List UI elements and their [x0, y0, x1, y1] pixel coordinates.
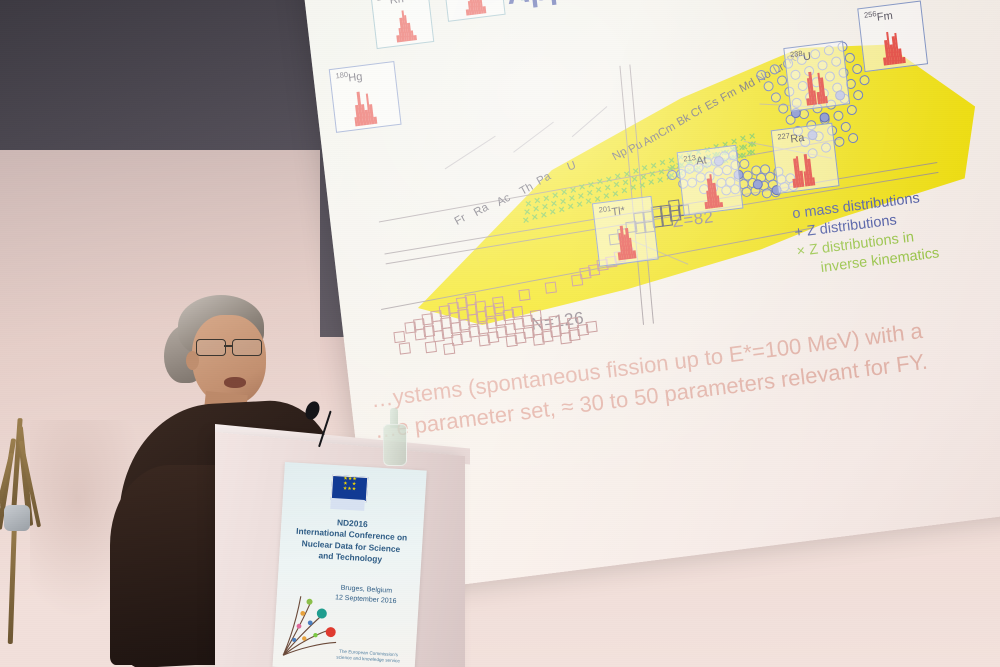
inset-218Th: 218Th	[441, 0, 505, 22]
inset-label: 213At	[683, 152, 707, 169]
histogram	[779, 149, 835, 189]
element-label-fr: Fr	[453, 212, 468, 228]
stick	[8, 514, 18, 644]
nuclide-marker	[518, 289, 530, 301]
water-bottle	[383, 424, 407, 466]
inset-256Fm: 256Fm	[857, 1, 928, 73]
element-symbol: Fm	[876, 10, 893, 24]
histogram	[600, 222, 654, 262]
mass-number: 180	[335, 70, 348, 81]
histogram	[337, 87, 396, 128]
poster-title: ND2016 International Conference on Nucle…	[283, 514, 420, 568]
mass-number: 213	[683, 153, 696, 164]
inset-180Hg: 180Hg	[329, 61, 402, 133]
leader-line	[513, 122, 554, 153]
element-symbol: U	[802, 50, 811, 63]
inset-213At: 213At	[677, 145, 744, 216]
nuclide-marker	[585, 321, 597, 333]
inset-label: 227Ra	[777, 129, 805, 147]
eu-stars: ★★★★ ★★★★	[332, 476, 367, 501]
bridge	[224, 345, 232, 347]
element-symbol: At	[696, 154, 708, 167]
mouth	[224, 377, 246, 388]
eyeglasses	[196, 339, 266, 354]
nuclide-marker	[443, 343, 455, 355]
element-symbol: Tl*	[611, 205, 626, 219]
nuclide-marker	[492, 296, 504, 308]
lens-right	[232, 339, 262, 356]
nuclide-marker	[399, 342, 411, 354]
mass-number: 227	[777, 131, 790, 142]
nuclide-marker	[425, 341, 437, 353]
nuclide-marker	[393, 331, 405, 343]
element-symbol: Ra	[790, 132, 805, 146]
lens-left	[196, 339, 226, 356]
inset-label: 180Hg	[335, 68, 363, 86]
histogram	[378, 8, 429, 45]
element-symbol: Hg	[348, 71, 363, 85]
element-label-ac: Ac	[495, 192, 513, 209]
conference-poster: ★★★★ ★★★★ ND2016 International Conferenc…	[272, 462, 426, 667]
leader-line	[445, 136, 496, 170]
inset-208Rn: 208Rn	[370, 0, 434, 49]
nuclide-marker	[545, 281, 557, 293]
face	[192, 315, 266, 405]
inset-label: 208Rn	[376, 0, 404, 8]
mass-number: 208	[376, 0, 389, 3]
inset-227Ra: 227Ra	[771, 123, 840, 194]
histogram	[865, 27, 922, 68]
legend-symbol-circle: o	[792, 205, 802, 222]
inset-label: 238U	[790, 48, 812, 65]
legend-symbol-plus: +	[794, 224, 804, 241]
legend-symbol-cross: ×	[796, 243, 806, 260]
decorative-sticks	[0, 418, 70, 667]
mass-number: 238	[790, 49, 803, 60]
mass-number: 256	[864, 9, 877, 20]
element-symbol: Rn	[389, 0, 404, 7]
histogram	[449, 0, 500, 17]
histogram	[685, 171, 739, 211]
scene: Application range of GEF Z=82 N=126 Fr R…	[0, 0, 1000, 667]
leader-line	[572, 106, 608, 137]
eu-flag-caption-bar	[330, 498, 365, 511]
vase	[4, 505, 30, 531]
mass-number: 201	[598, 204, 611, 215]
inset-238U: 238U	[783, 41, 850, 112]
histogram	[791, 67, 845, 107]
inset-label: 256Fm	[864, 7, 894, 25]
inset-label: 201Tl*	[598, 202, 625, 220]
inset-201Tl: 201Tl*	[592, 196, 659, 267]
